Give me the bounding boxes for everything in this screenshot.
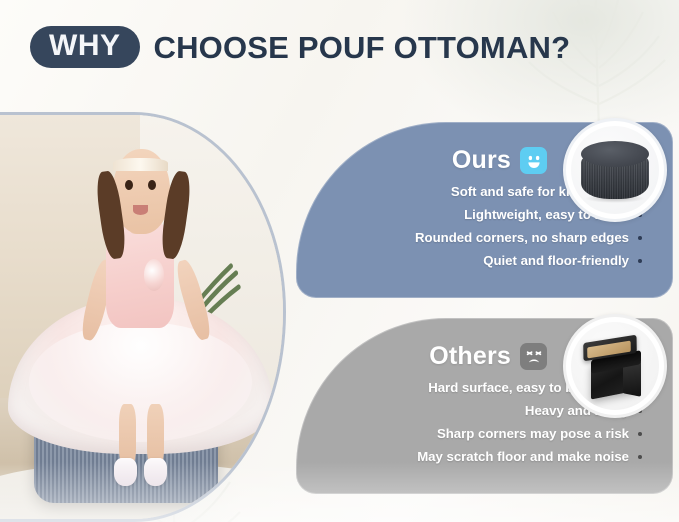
list-item: Quiet and floor-friendly [483,251,642,271]
confounded-face-icon [520,343,547,370]
dress-rosette [144,259,164,291]
smile-mouth [133,205,148,214]
dress-tulle-overlay [29,322,251,442]
pouf-top [581,141,649,167]
bullet-dot-icon [638,236,642,240]
photo-scene [0,115,283,519]
others-title: Others [429,344,511,369]
lifestyle-photo [0,112,286,522]
pouf-illustration [581,141,649,199]
bullet-dot-icon [638,432,642,436]
list-item: Sharp corners may pose a risk [437,424,642,444]
page-title: CHOOSE POUF OTTOMAN? [154,32,571,63]
page-header: WHY CHOOSE POUF OTTOMAN? [30,26,570,68]
others-panel-header: Others [429,343,547,370]
others-bullet-3: Sharp corners may pose a risk [437,424,629,444]
list-item: Rounded corners, no sharp edges [415,228,642,248]
right-eye [148,180,156,190]
smiling-face-icon [520,147,547,174]
why-badge: WHY [30,26,140,68]
product-image-inner [571,322,659,410]
ours-panel-header: Ours [452,147,547,174]
right-shoe [144,458,167,486]
bullet-dot-icon [638,259,642,263]
square-storage-ottoman-image [563,314,667,418]
round-pouf-ottoman-image [563,118,667,222]
left-shoe [114,458,137,486]
ours-title: Ours [452,148,511,173]
ours-bullet-3: Rounded corners, no sharp edges [415,228,629,248]
left-eye [125,180,133,190]
pearl-headband [113,158,169,171]
others-bullet-4: May scratch floor and make noise [417,447,629,467]
child-subject [63,139,217,454]
product-image-inner [571,126,659,214]
bullet-dot-icon [638,455,642,459]
storage-box-illustration [579,335,651,397]
list-item: May scratch floor and make noise [417,447,642,467]
ours-bullet-4: Quiet and floor-friendly [483,251,629,271]
photo-frame [0,112,286,522]
